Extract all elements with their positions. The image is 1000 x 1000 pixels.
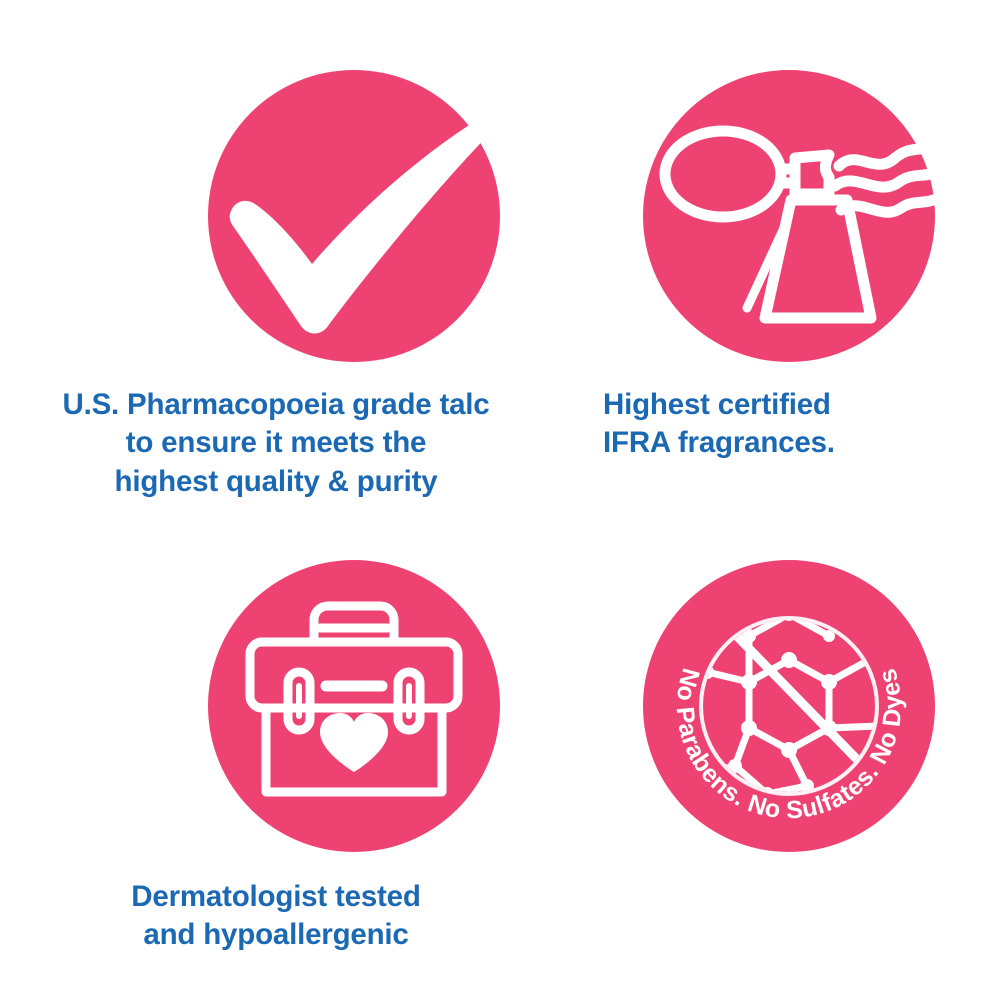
checkmark-icon: [208, 70, 500, 362]
badge-no-nasties: No Parabens. No Sulfates. No Dyes: [565, 560, 1000, 852]
perfume-bottle-icon: [643, 70, 935, 362]
medical-bag-badge: [208, 560, 500, 852]
badge-dermatologist-tested: Dermatologist tested and hypoallergenic: [0, 560, 570, 955]
badge-caption: U.S. Pharmacopoeia grade talc to ensure …: [0, 386, 570, 501]
badge-grid: U.S. Pharmacopoeia grade talc to ensure …: [0, 0, 1000, 1000]
no-molecule-seal-icon: No Parabens. No Sulfates. No Dyes: [643, 560, 935, 852]
badge-caption: Highest certified IFRA fragrances.: [565, 386, 1000, 463]
no-nasties-badge: No Parabens. No Sulfates. No Dyes: [643, 560, 935, 852]
badge-caption: Dermatologist tested and hypoallergenic: [0, 878, 570, 955]
medical-bag-icon: [208, 560, 500, 852]
badge-usp-grade-talc: U.S. Pharmacopoeia grade talc to ensure …: [0, 70, 570, 501]
checkmark-badge: [208, 70, 500, 362]
perfume-badge: [643, 70, 935, 362]
badge-ifra-fragrances: Highest certified IFRA fragrances.: [565, 70, 1000, 463]
